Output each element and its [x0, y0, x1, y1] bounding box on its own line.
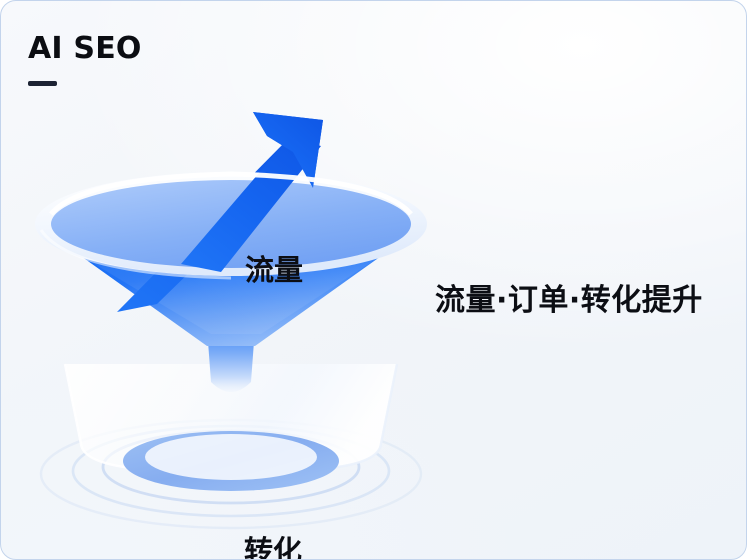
headline-text: 流量·订单·转化提升	[435, 275, 703, 319]
accent-rule-divider	[28, 81, 57, 86]
funnel-label-conversion: 转化	[244, 528, 302, 560]
conversion-funnel-illustration: 流量 转化	[21, 96, 441, 541]
brand-block: AI SEO	[28, 34, 328, 86]
ai-seo-promo-card: AI SEO 流量·订单·转化提升	[0, 0, 747, 560]
funnel-label-traffic: 流量	[245, 247, 303, 289]
page-title: AI SEO	[28, 34, 328, 64]
